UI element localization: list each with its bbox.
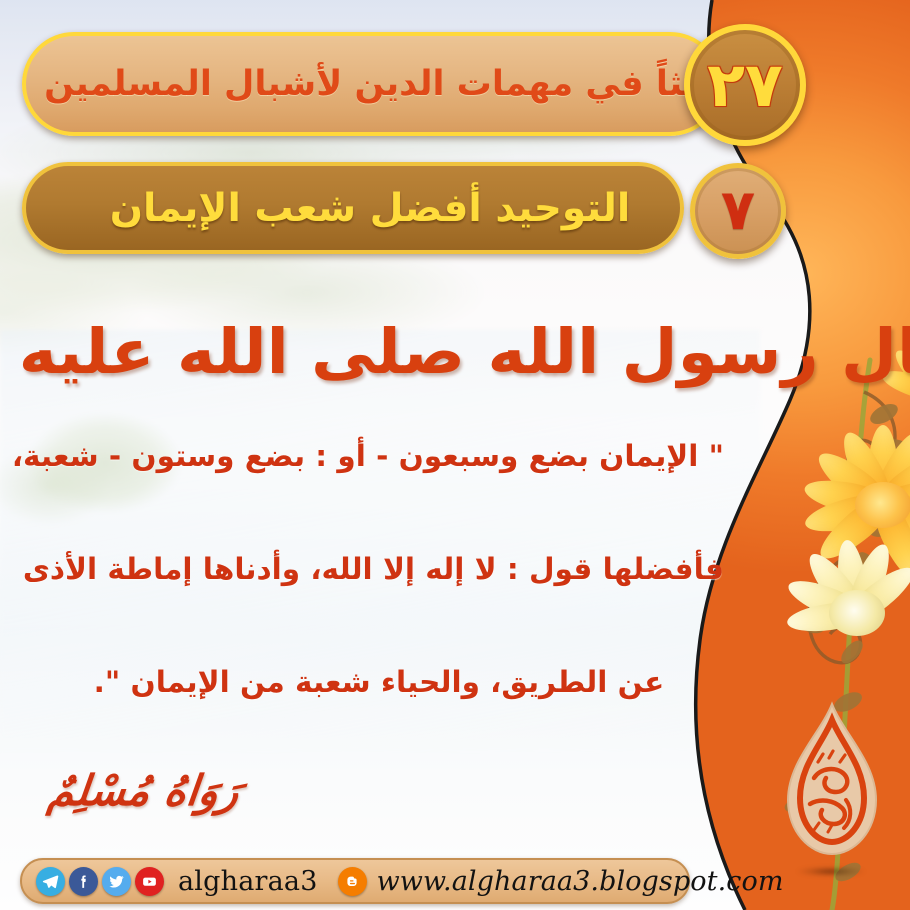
series-number-badge: ٢٧	[684, 24, 806, 146]
lesson-number-badge: ٧	[690, 163, 786, 259]
lesson-number-text: ٧	[721, 183, 755, 239]
calligraphy-heading-text: قال رسول الله صلى الله عليه وسلم	[0, 315, 910, 388]
telegram-icon[interactable]	[36, 867, 65, 896]
series-number-text: ٢٧	[707, 54, 783, 116]
footer-bar: algharaa3 www.algharaa3.blogspot.com	[20, 858, 690, 904]
blogger-icon[interactable]	[338, 867, 367, 896]
series-title-banner: حديثاً في مهمات الدين لأشبال المسلمين	[22, 32, 722, 136]
hadith-card: الغراء حديثاً في مهمات الدين لأشبال المس…	[0, 0, 910, 910]
facebook-icon[interactable]	[69, 867, 98, 896]
hadith-line: فأفضلها قول : لا إله إلا الله، وأدناها إ…	[34, 551, 724, 588]
brand-logo-teardrop: الغراء	[784, 700, 880, 858]
hadith-text-block: " الإيمان بضع وسبعون - أو : بضع وستون - …	[34, 438, 724, 701]
lesson-title-banner: التوحيد أفضل شعب الإيمان	[22, 162, 684, 254]
series-title-text: حديثاً في مهمات الدين لأشبال المسلمين	[2, 64, 742, 104]
youtube-icon[interactable]	[135, 867, 164, 896]
hadith-narrator: رَوَاهُ مُسْلِمٌ	[45, 766, 241, 815]
website-url-text: www.algharaa3.blogspot.com	[377, 866, 784, 897]
logo-shadow	[796, 866, 866, 877]
hadith-line: عن الطريق، والحياء شعبة من الإيمان ".	[34, 664, 724, 701]
prophet-saying-calligraphy: قال رسول الله صلى الله عليه وسلم	[110, 288, 670, 414]
social-handle-text: algharaa3	[178, 866, 318, 897]
hadith-line: " الإيمان بضع وسبعون - أو : بضع وستون - …	[34, 438, 724, 475]
twitter-icon[interactable]	[102, 867, 131, 896]
lesson-title-text: التوحيد أفضل شعب الإيمان	[76, 186, 631, 231]
